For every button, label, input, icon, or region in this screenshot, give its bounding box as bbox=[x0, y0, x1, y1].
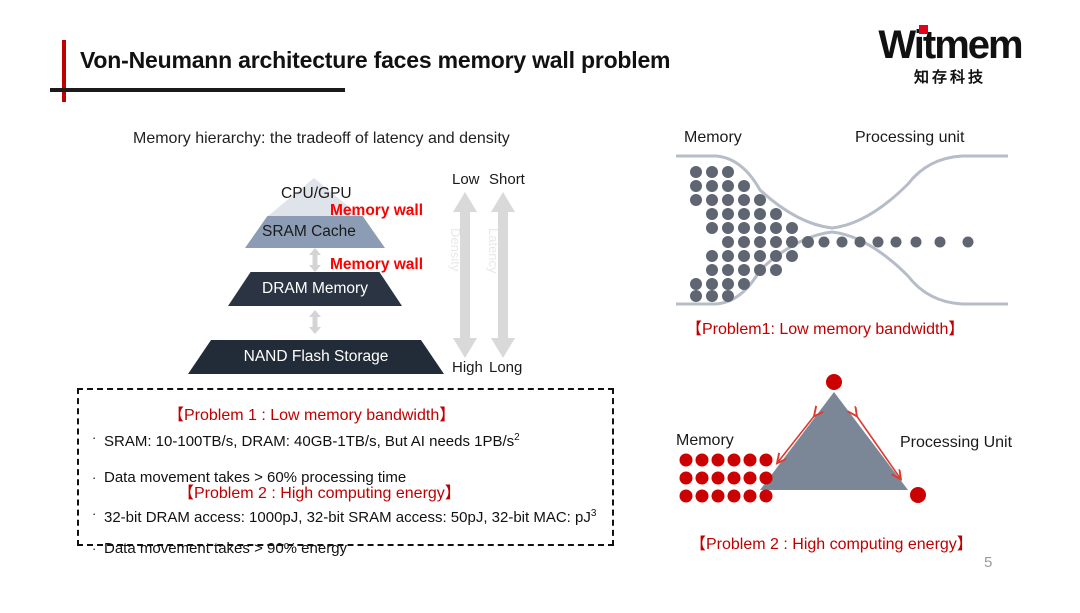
axis-label-short: Short bbox=[489, 171, 525, 188]
bullet-text: SRAM: 10-100TB/s, DRAM: 40GB-1TB/s, But … bbox=[104, 427, 520, 453]
axis-rotated-label-density: Density bbox=[448, 228, 463, 271]
tier-label-dram-memory: DRAM Memory bbox=[262, 280, 368, 298]
energy-caption: 【Problem 2 : High computing energy】 bbox=[690, 530, 973, 554]
problem-1-heading: 【Problem 1 : Low memory bandwidth】 bbox=[168, 401, 455, 425]
axis-label-low: Low bbox=[452, 171, 480, 188]
page-number: 5 bbox=[984, 554, 992, 571]
bullet-marker: · bbox=[92, 503, 104, 525]
bottleneck-caption: 【Problem1: Low memory bandwidth】 bbox=[686, 315, 964, 339]
title-underline-rule bbox=[50, 88, 345, 92]
tier-shape-nand-flash: NAND Flash Storage bbox=[188, 340, 444, 374]
bullet-marker: · bbox=[92, 467, 104, 489]
memory-wall-label-2: Memory wall bbox=[330, 256, 423, 274]
bottleneck-funnel-diagram bbox=[672, 150, 1012, 310]
bullet-text: Data movement takes > 60% processing tim… bbox=[104, 467, 406, 489]
tier-label-nand-flash: NAND Flash Storage bbox=[244, 348, 389, 366]
logo-chinese-text: 知存科技 bbox=[860, 66, 1040, 87]
axis-label-long: Long bbox=[489, 359, 522, 376]
tier-gap-arrow-icon-2 bbox=[308, 310, 322, 334]
bullet-marker: · bbox=[92, 427, 104, 449]
witmem-logo: Witmem 知存科技 bbox=[860, 26, 1040, 87]
tier-label-sram-cache: SRAM Cache bbox=[262, 223, 356, 241]
logo-red-dot-icon bbox=[919, 25, 928, 34]
logo-wordmark: Witmem bbox=[878, 26, 1021, 64]
tier-gap-arrow-icon-1 bbox=[308, 248, 322, 272]
hierarchy-caption: Memory hierarchy: the tradeoff of latenc… bbox=[133, 130, 510, 148]
memory-wall-label-1: Memory wall bbox=[330, 202, 423, 220]
bullet-text: Data movement takes > 90% energy bbox=[104, 538, 347, 560]
title-red-accent-rule bbox=[62, 40, 66, 102]
bottleneck-label-processing-unit: Processing unit bbox=[855, 129, 964, 147]
tier-shape-dram-memory: DRAM Memory bbox=[228, 272, 402, 306]
density-double-arrow-icon bbox=[452, 192, 478, 358]
bullet-item: · Data movement takes > 90% energy bbox=[92, 538, 552, 560]
tier-label-cpu-gpu: CPU/GPU bbox=[281, 185, 352, 203]
bullet-marker: · bbox=[92, 538, 104, 560]
axis-label-high: High bbox=[452, 359, 483, 376]
page-title: Von-Neumann architecture faces memory wa… bbox=[80, 47, 670, 74]
bullet-text: 32-bit DRAM access: 1000pJ, 32-bit SRAM … bbox=[104, 503, 596, 529]
energy-memory-dot-array bbox=[678, 452, 774, 504]
bullet-item: · SRAM: 10-100TB/s, DRAM: 40GB-1TB/s, Bu… bbox=[92, 427, 552, 453]
axis-rotated-label-latency: Latency bbox=[486, 228, 501, 274]
logo-wordmark-text: Witmem bbox=[878, 23, 1021, 67]
latency-double-arrow-icon bbox=[490, 192, 516, 358]
bullet-superscript: 2 bbox=[514, 432, 520, 443]
bottleneck-label-memory: Memory bbox=[684, 129, 742, 147]
bullet-superscript: 3 bbox=[591, 508, 597, 519]
bullet-item: · Data movement takes > 60% processing t… bbox=[92, 467, 552, 489]
bullet-item: · 32-bit DRAM access: 1000pJ, 32-bit SRA… bbox=[92, 503, 638, 529]
